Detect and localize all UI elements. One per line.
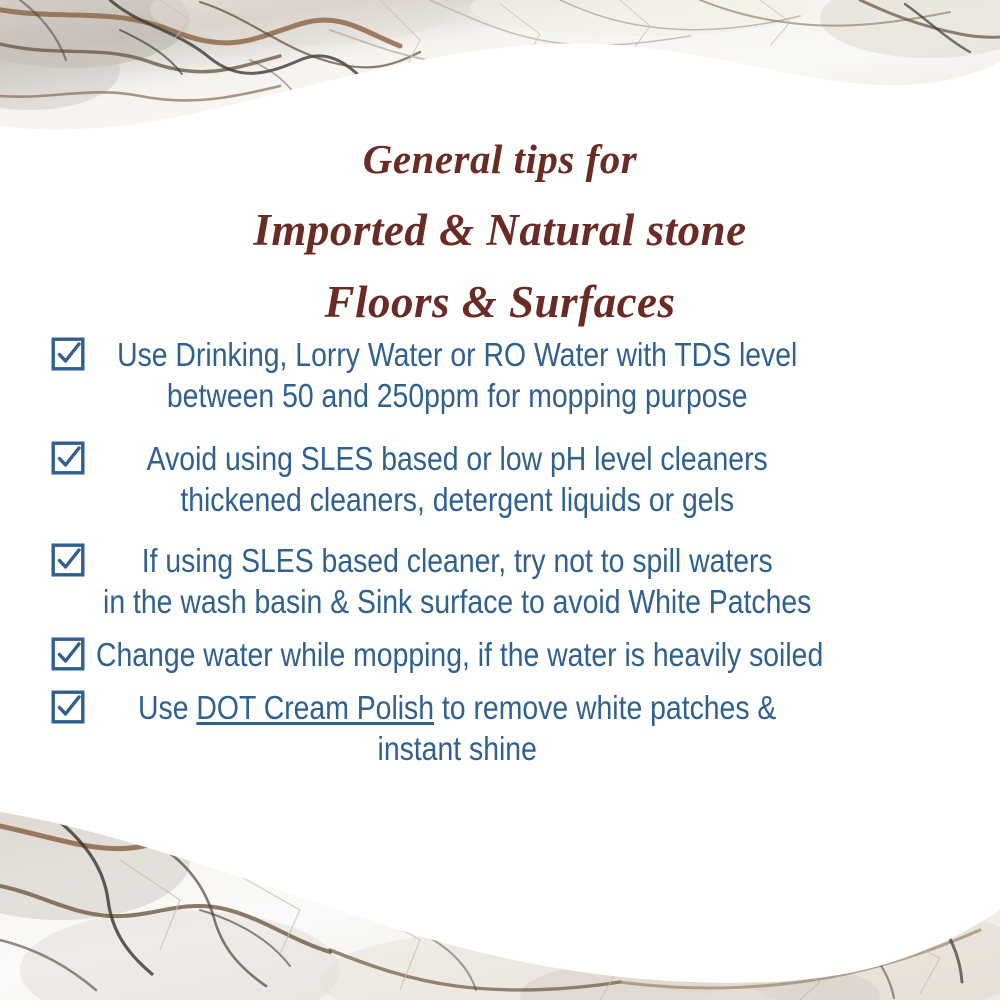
list-item: Change water while mopping, if the water… <box>0 634 1000 675</box>
list-item: Use Drinking, Lorry Water or RO Water wi… <box>0 334 1000 416</box>
page-title-line-3: Floors & Surfaces <box>0 266 1000 338</box>
list-item-line: instant shine <box>96 728 818 769</box>
list-item-text: Use Drinking, Lorry Water or RO Water wi… <box>96 334 818 416</box>
list-item-line: in the wash basin & Sink surface to avoi… <box>96 581 818 622</box>
poster-root: General tips for Imported & Natural ston… <box>0 0 1000 1000</box>
poster-content: General tips for Imported & Natural ston… <box>0 0 1000 1000</box>
list-item-line: thickened cleaners, detergent liquids or… <box>96 479 818 520</box>
checked-checkbox-icon <box>50 440 86 476</box>
tips-list: Use Drinking, Lorry Water or RO Water wi… <box>0 334 1000 769</box>
checked-checkbox-icon <box>50 542 86 578</box>
dot-cream-polish-link[interactable]: DOT Cream Polish <box>196 689 434 726</box>
list-item-line: Use DOT Cream Polish to remove white pat… <box>96 687 818 728</box>
list-item-line-suffix: to remove white patches & <box>434 689 776 726</box>
page-title-line-2: Imported & Natural stone <box>0 194 1000 266</box>
checked-checkbox-icon <box>50 336 86 372</box>
list-item-line: Avoid using SLES based or low pH level c… <box>96 438 818 479</box>
list-item: If using SLES based cleaner, try not to … <box>0 540 1000 622</box>
list-item: Avoid using SLES based or low pH level c… <box>0 438 1000 520</box>
list-item-line: between 50 and 250ppm for mopping purpos… <box>96 375 818 416</box>
checked-checkbox-icon <box>50 689 86 725</box>
list-item-line: If using SLES based cleaner, try not to … <box>96 540 818 581</box>
list-item-text: Avoid using SLES based or low pH level c… <box>96 438 818 520</box>
list-item-text: If using SLES based cleaner, try not to … <box>96 540 818 622</box>
list-item-text: Use DOT Cream Polish to remove white pat… <box>96 687 818 769</box>
list-item-line: Use Drinking, Lorry Water or RO Water wi… <box>96 334 818 375</box>
page-title-line-1: General tips for <box>0 124 1000 194</box>
page-title: General tips for Imported & Natural ston… <box>0 124 1000 338</box>
list-item: Use DOT Cream Polish to remove white pat… <box>0 687 1000 769</box>
list-item-text: Change water while mopping, if the water… <box>96 634 818 675</box>
list-item-line-prefix: Use <box>138 689 196 726</box>
checked-checkbox-icon <box>50 636 86 672</box>
list-item-line: Change water while mopping, if the water… <box>96 634 818 675</box>
